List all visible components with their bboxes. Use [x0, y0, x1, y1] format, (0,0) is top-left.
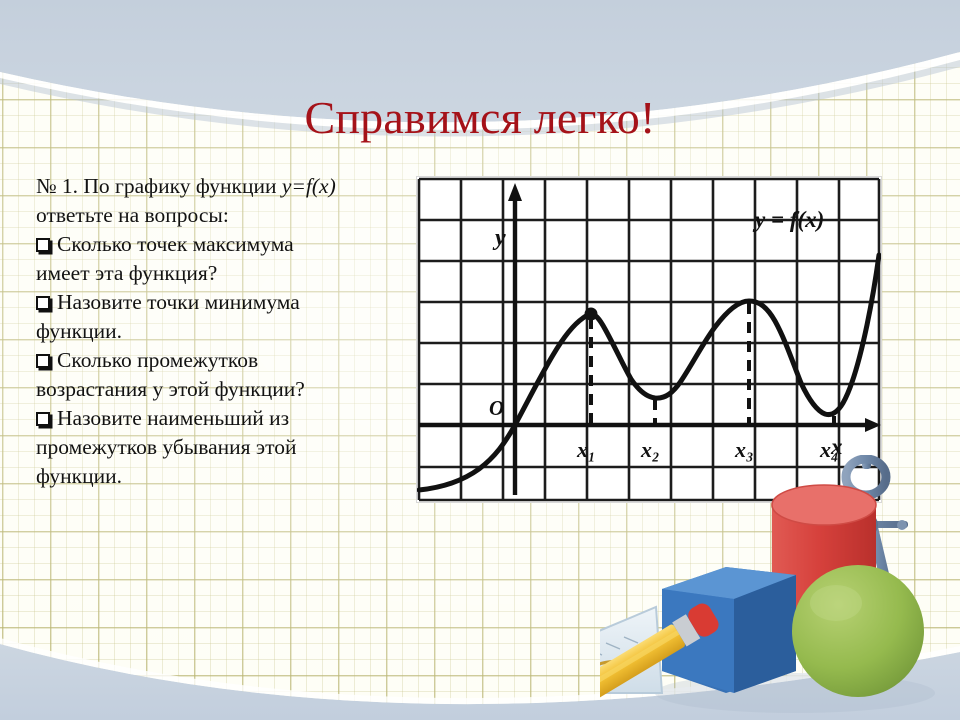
- question-intro-line2: ответьте на вопросы:: [36, 201, 428, 230]
- question-item-1-line1: Сколько точек максимума: [57, 232, 294, 256]
- question-number-prefix: № 1. По графику функции: [36, 174, 282, 198]
- square-bullet-icon: [36, 412, 50, 426]
- question-item-2-line1: Назовите точки минимума: [57, 290, 300, 314]
- question-item-2-line2: функции.: [36, 317, 428, 346]
- y-axis-label: y: [492, 225, 506, 251]
- tick-label-x1: x₁: [576, 437, 596, 462]
- question-item-4-line2: промежутков убывания этой: [36, 433, 428, 462]
- square-bullet-icon: [36, 296, 50, 310]
- geometry-clipart-svg: [600, 455, 960, 720]
- square-bullet-icon: [36, 238, 50, 252]
- function-label: y = f(x): [752, 207, 824, 232]
- question-item-1-line2: имеет эта функция?: [36, 259, 428, 288]
- origin-label: O: [489, 396, 504, 420]
- function-notation: y=f(x): [282, 174, 336, 198]
- geometry-clipart: [600, 455, 960, 720]
- question-item-3-line1: Сколько промежутков: [57, 348, 258, 372]
- function-graph-svg: y O x y = f(x) x₁ x₂ x₃ x₄: [417, 177, 881, 502]
- slide-canvas: Справимся легко! № 1. По графику функции…: [0, 0, 960, 720]
- question-item-2: Назовите точки минимума: [36, 288, 428, 317]
- question-item-3-line2: возрастания у этой функции?: [36, 375, 428, 404]
- question-block: № 1. По графику функции y=f(x) ответьте …: [36, 172, 428, 491]
- green-sphere-icon: [792, 565, 924, 697]
- question-item-1: Сколько точек максимума: [36, 230, 428, 259]
- function-graph-figure: y O x y = f(x) x₁ x₂ x₃ x₄: [416, 176, 882, 503]
- question-item-4-line1: Назовите наименьший из: [57, 406, 289, 430]
- slide-title: Справимся легко!: [0, 94, 960, 142]
- question-item-4: Назовите наименьший из: [36, 404, 428, 433]
- question-item-3: Сколько промежутков: [36, 346, 428, 375]
- square-bullet-icon: [36, 354, 50, 368]
- question-intro-line1: № 1. По графику функции y=f(x): [36, 172, 428, 201]
- question-item-4-line3: функции.: [36, 462, 428, 491]
